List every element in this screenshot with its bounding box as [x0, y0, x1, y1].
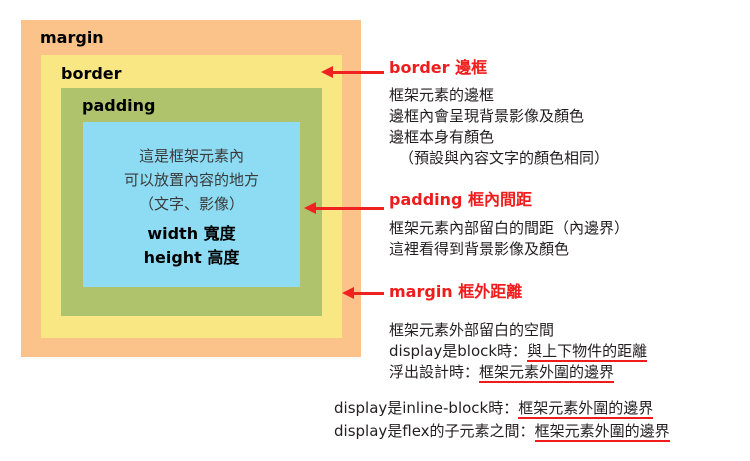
rule-underlined: 與上下物件的距離: [527, 342, 647, 362]
box-model-margin-area: margin border padding 這是框架元素內 可以放置內容的地方 …: [21, 20, 361, 357]
footnote-line: display是inline-block時：框架元素外圍的邊界: [334, 397, 670, 420]
arrow-to-border-icon: [332, 71, 384, 74]
annotation-border-title: border 邊框: [389, 58, 609, 78]
annotation-line: 框架元素的邊框: [389, 85, 609, 106]
box-model-padding-area: padding 這是框架元素內 可以放置內容的地方 （文字、影像） width …: [61, 88, 322, 316]
footnote-underlined: 框架元素外圍的邊界: [535, 422, 670, 442]
annotation-margin-title: margin 框外距離: [389, 282, 647, 302]
annotation-margin-body: 框架元素外部留白的空間 display是block時：與上下物件的距離 浮出設計…: [389, 320, 647, 383]
rule-prefix: display是block時：: [389, 342, 527, 360]
annotation-border-body: 框架元素的邊框 邊框內會呈現背景影像及顏色 邊框本身有顏色 （預設與內容文字的顏…: [389, 85, 609, 169]
footnote-prefix: display是flex的子元素之間：: [334, 422, 535, 440]
footnote-line: display是flex的子元素之間：框架元素外圍的邊界: [334, 420, 670, 443]
annotation-rule-line: display是block時：與上下物件的距離: [389, 341, 647, 362]
footnotes: display是inline-block時：框架元素外圍的邊界 display是…: [334, 397, 670, 443]
annotation-line: 框架元素內部留白的間距（內邊界）: [389, 218, 629, 239]
content-description-line: 可以放置內容的地方: [83, 168, 300, 192]
annotation-line: （預設與內容文字的顏色相同）: [389, 148, 609, 169]
rule-prefix: 浮出設計時：: [389, 363, 479, 381]
footnote-prefix: display是inline-block時：: [334, 399, 518, 417]
content-description-line: （文字、影像）: [83, 192, 300, 216]
arrow-to-margin-icon: [353, 292, 384, 295]
box-model-content-area: 這是框架元素內 可以放置內容的地方 （文字、影像） width 寬度 heigh…: [83, 122, 300, 287]
border-label: border: [61, 64, 122, 83]
annotation-line: 邊框本身有顏色: [389, 127, 609, 148]
footnote-underlined: 框架元素外圍的邊界: [518, 399, 653, 419]
padding-label: padding: [82, 96, 155, 115]
content-width-label: width 寬度: [83, 222, 300, 246]
annotation-border: border 邊框 框架元素的邊框 邊框內會呈現背景影像及顏色 邊框本身有顏色 …: [389, 58, 609, 169]
content-dimensions: width 寬度 height 高度: [83, 222, 300, 270]
annotation-rule-line: 浮出設計時：框架元素外圍的邊界: [389, 362, 647, 383]
content-description-line: 這是框架元素內: [83, 144, 300, 168]
arrow-to-padding-icon: [315, 207, 384, 210]
content-description: 這是框架元素內 可以放置內容的地方 （文字、影像）: [83, 144, 300, 216]
annotation-padding: padding 框內間距 框架元素內部留白的間距（內邊界） 這裡看得到背景影像及…: [389, 190, 629, 260]
annotation-padding-title: padding 框內間距: [389, 190, 629, 210]
annotation-line: 邊框內會呈現背景影像及顏色: [389, 106, 609, 127]
annotation-line: 框架元素外部留白的空間: [389, 320, 647, 341]
content-height-label: height 高度: [83, 246, 300, 270]
box-model-border-area: border padding 這是框架元素內 可以放置內容的地方 （文字、影像）…: [41, 55, 342, 338]
margin-label: margin: [40, 28, 104, 47]
annotation-margin: margin 框外距離 框架元素外部留白的空間 display是block時：與…: [389, 282, 647, 383]
annotation-padding-body: 框架元素內部留白的間距（內邊界） 這裡看得到背景影像及顏色: [389, 218, 629, 260]
rule-underlined: 框架元素外圍的邊界: [479, 363, 614, 383]
annotation-line: 這裡看得到背景影像及顏色: [389, 239, 629, 260]
